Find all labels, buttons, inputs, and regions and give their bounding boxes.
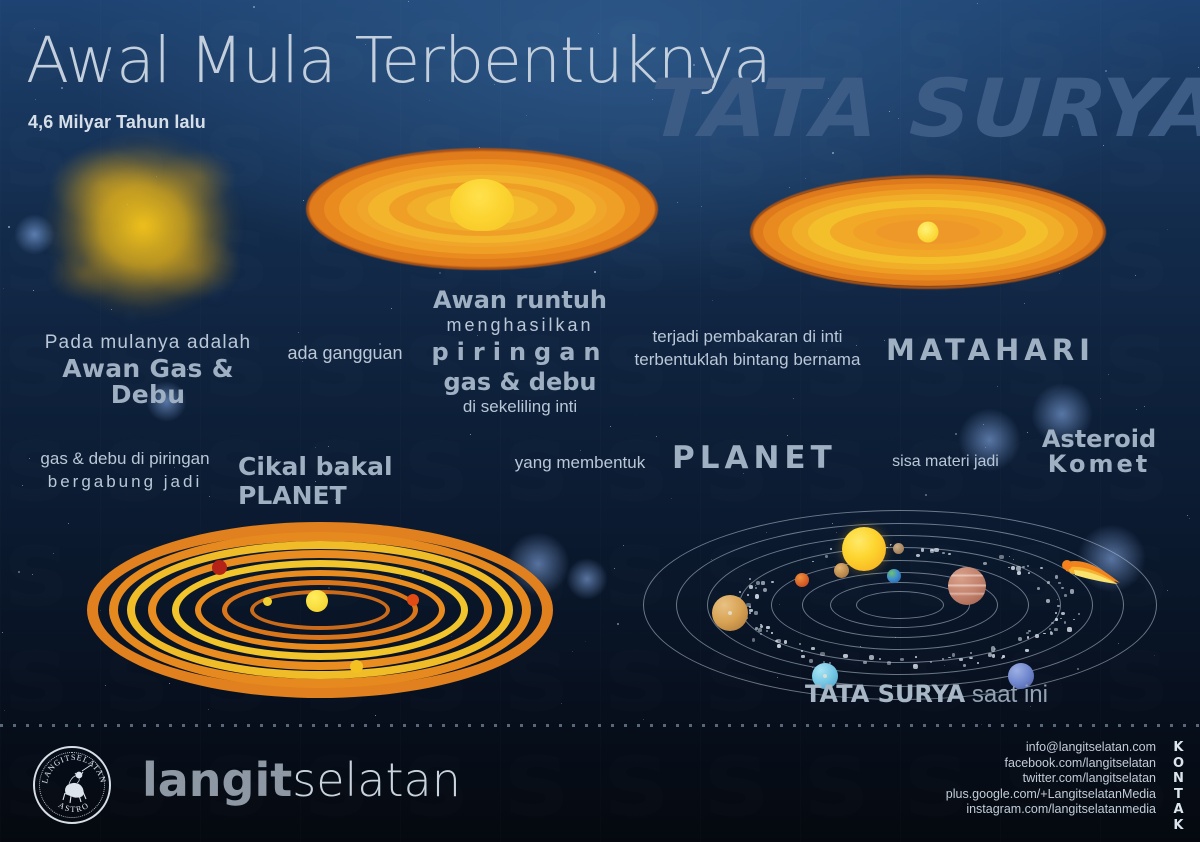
step-8-forming-caption: yang membentuk	[500, 453, 660, 473]
collapsing-cloud-disk-illustration	[308, 148, 656, 270]
contact-line[interactable]: instagram.com/langitselatanmedia	[946, 802, 1156, 818]
protoplanetary-disk-illustration	[752, 176, 1104, 288]
solar-system-caption: TATA SURYA saat ini	[805, 680, 1065, 709]
contact-line[interactable]: info@langitselatan.com	[946, 740, 1156, 756]
svg-text:LANGITSELATAN: LANGITSELATAN	[40, 753, 108, 784]
protoplanet-body	[407, 594, 419, 606]
kontak-letter: T	[1173, 787, 1184, 803]
step-4-ignition-caption: terjadi pembakaran di inti terbentuklah …	[615, 325, 880, 371]
caption-line-bold: Komet	[1018, 452, 1180, 477]
caption-line-bold: PLANET	[672, 440, 887, 476]
step-7-protoplanet-caption: Cikal bakal PLANET	[238, 452, 493, 510]
step-9-planet-caption: PLANET	[672, 440, 887, 476]
langitselatan-logo-badge: LANGITSELATAN ASTRO	[33, 746, 111, 824]
step-2-disturbance-caption: ada gangguan	[280, 343, 410, 364]
caption-light-part: saat ini	[965, 681, 1048, 708]
caption-line-bold: piringan	[425, 340, 615, 364]
planet-matahari	[842, 527, 886, 571]
planet-venus	[834, 563, 849, 578]
logo-arc-bottom-text: ASTRO	[57, 800, 92, 814]
protoplanet-body	[306, 590, 328, 612]
kontak-letter: O	[1173, 756, 1184, 772]
step-6-accretion-caption: gas & debu di piringan bergabung jadi	[25, 447, 225, 493]
brand-wordmark: langitselatan	[142, 757, 461, 803]
caption-line-light: yang membentuk	[500, 453, 660, 473]
step-3-collapse-caption: Awan runtuh menghasilkan piringan gas & …	[425, 288, 615, 415]
planet-mars	[795, 573, 809, 587]
caption-line-bold: gas & debu	[425, 370, 615, 394]
kontak-vertical-label: KONTAK	[1173, 740, 1184, 834]
caption-line-light: terjadi pembakaran di inti	[615, 325, 880, 348]
brand-light: selatan	[292, 753, 461, 807]
brand-bold: langit	[142, 753, 292, 807]
comet-icon	[1058, 553, 1128, 593]
caption-line-light: terbentuklah bintang bernama	[615, 348, 880, 371]
caption-line-bold: MATAHARI	[886, 333, 1176, 367]
step-5-sun-caption: MATAHARI	[886, 333, 1176, 367]
tata-surya-display-heading: TATA SURYA	[647, 62, 1200, 155]
caption-line-light: Pada mulanya adalah	[28, 330, 268, 356]
step-11-asteroid-comet-caption: Asteroid Komet	[1018, 427, 1180, 477]
caption-line-bold: Awan runtuh	[425, 288, 615, 312]
kontak-letter: N	[1173, 771, 1184, 787]
caption-line-light: bergabung jadi	[25, 470, 225, 493]
protoplanet-body	[212, 560, 227, 575]
caption-line-light: menghasilkan	[425, 316, 615, 334]
caption-line-bold: Cikal bakal PLANET	[238, 452, 493, 510]
kontak-letter: K	[1173, 740, 1184, 756]
contact-list: info@langitselatan.comfacebook.com/langi…	[946, 740, 1156, 818]
kontak-letter: A	[1173, 802, 1184, 818]
step-1-cloud-caption: Pada mulanya adalah Awan Gas & Debu	[28, 330, 268, 408]
planet-merkurius	[893, 543, 904, 554]
infographic-poster: ssssssssssssssssssssssssssssssssssssssss…	[0, 0, 1200, 842]
caption-line-light: gas & debu di piringan	[25, 447, 225, 470]
step-10-leftover-caption: sisa materi jadi	[878, 453, 1013, 471]
gas-and-dust-cloud-illustration	[18, 118, 268, 343]
centaur-archer-emblem	[63, 765, 91, 803]
caption-line-light: sisa materi jadi	[878, 453, 1013, 471]
planet-bumi	[887, 569, 901, 583]
caption-line-light: ada gangguan	[280, 343, 410, 364]
present-day-solar-system-illustration	[640, 505, 1160, 705]
protoplanet-body	[350, 660, 363, 673]
caption-line-light: di sekeliling inti	[425, 398, 615, 415]
contact-line[interactable]: plus.google.com/+LangitselatanMedia	[946, 787, 1156, 803]
caption-line-bold: Awan Gas & Debu	[28, 356, 268, 408]
caption-line-bold: Asteroid	[1018, 427, 1180, 452]
footer-divider	[0, 724, 1200, 727]
planet-jupiter	[948, 567, 986, 605]
caption-bold-part: TATA SURYA	[805, 680, 965, 708]
protoplanet-ring-disk-illustration	[85, 520, 555, 700]
contact-line[interactable]: facebook.com/langitselatan	[946, 756, 1156, 772]
contact-line[interactable]: twitter.com/langitselatan	[946, 771, 1156, 787]
logo-arc-top-text: LANGITSELATAN	[40, 753, 108, 784]
planet-saturnus	[712, 595, 748, 631]
kontak-letter: K	[1173, 818, 1184, 834]
svg-text:ASTRO: ASTRO	[57, 800, 92, 814]
protoplanet-body	[263, 597, 272, 606]
